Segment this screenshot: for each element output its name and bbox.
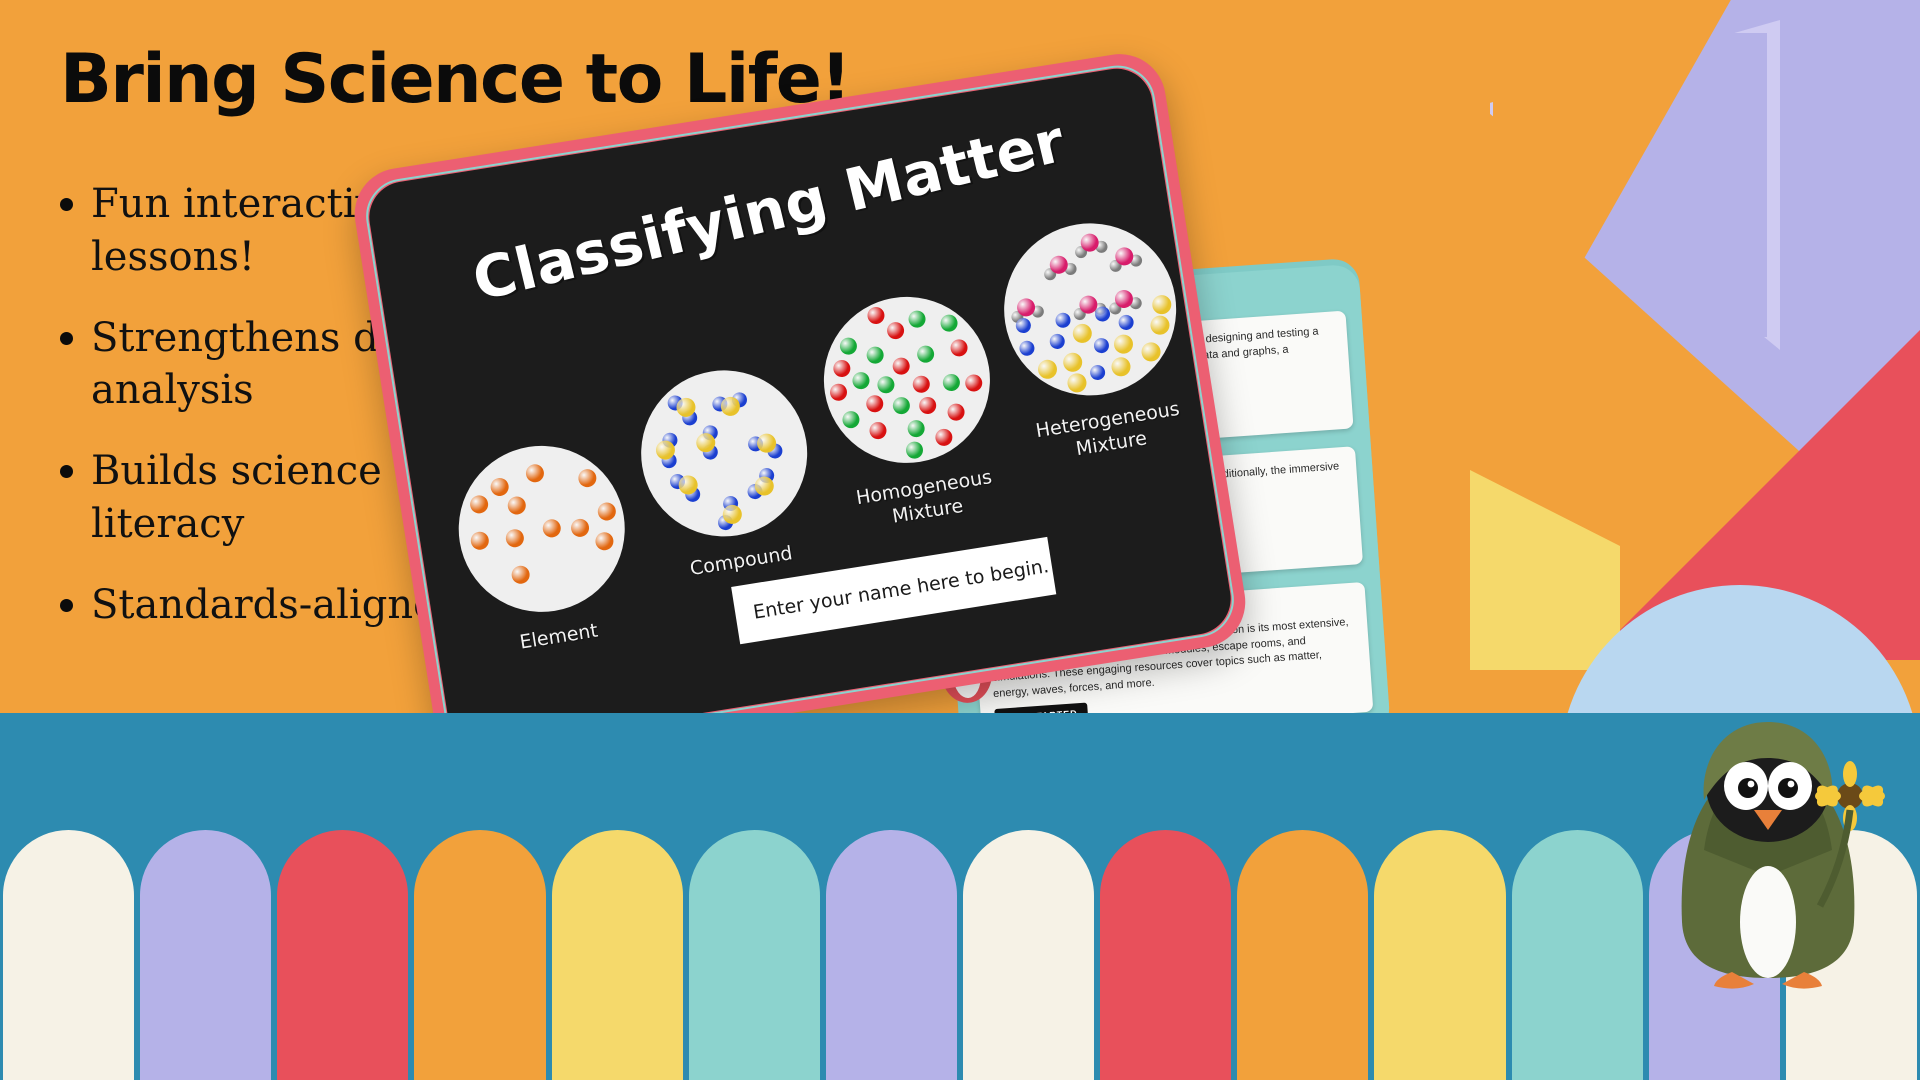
diagram-label: Homogeneous Mixture bbox=[827, 461, 1024, 539]
atom-dot bbox=[907, 309, 926, 328]
footer-arch bbox=[1100, 830, 1231, 1080]
atom-dot bbox=[886, 321, 905, 340]
atom-dot bbox=[832, 359, 851, 378]
bullet-text: Standards-aligned bbox=[91, 579, 462, 632]
footer-arch bbox=[963, 830, 1094, 1080]
decor-lavender-outline bbox=[1480, 20, 1780, 350]
atom-dot bbox=[839, 337, 858, 356]
atom-dot bbox=[916, 344, 935, 363]
slide-screen: Classifying Matter Element Compound Homo… bbox=[364, 64, 1236, 753]
footer-arch bbox=[689, 830, 820, 1080]
atom-dot bbox=[934, 428, 953, 447]
atom-dot bbox=[865, 394, 884, 413]
decor-orange-band bbox=[1370, 0, 1490, 230]
diagram-label: Element bbox=[462, 610, 655, 664]
bullet-dot-icon bbox=[60, 198, 73, 211]
atom-dot bbox=[489, 477, 510, 498]
footer-arch bbox=[1374, 830, 1505, 1080]
atom-dot bbox=[949, 338, 968, 357]
atom-dot bbox=[1066, 372, 1088, 394]
diagram-element[interactable]: Element bbox=[434, 432, 656, 664]
footer-arch bbox=[3, 830, 134, 1080]
atom-dot bbox=[1089, 364, 1106, 381]
atom-dot bbox=[829, 382, 848, 401]
footer-arch bbox=[826, 830, 957, 1080]
footer-arch bbox=[414, 830, 545, 1080]
petri-dish-element bbox=[447, 434, 637, 624]
atom-dot bbox=[1015, 317, 1032, 334]
atom-dot bbox=[1093, 337, 1110, 354]
atom-dot bbox=[1071, 323, 1093, 345]
bullet-dot-icon bbox=[60, 332, 73, 345]
atom-dot bbox=[851, 371, 870, 390]
atom-dot bbox=[577, 468, 598, 489]
page-title: Bring Science to Life! bbox=[60, 44, 850, 115]
atom-dot bbox=[1149, 315, 1171, 337]
atom-dot bbox=[1018, 340, 1035, 357]
atom-dot bbox=[525, 463, 546, 484]
decor-lavender-triangle bbox=[1490, 0, 1920, 560]
footer-arch bbox=[1237, 830, 1368, 1080]
footer-arch bbox=[1512, 830, 1643, 1080]
atom-dot bbox=[1048, 333, 1065, 350]
atom-dot bbox=[906, 418, 925, 437]
petri-dish-heterogeneous bbox=[992, 211, 1189, 408]
diagram-label: Heterogeneous Mixture bbox=[1011, 393, 1208, 471]
atom-dot bbox=[892, 396, 911, 415]
atom-dot bbox=[866, 346, 885, 365]
atom-dot bbox=[1062, 351, 1084, 373]
atom-dot bbox=[866, 306, 885, 325]
atom-dot bbox=[470, 531, 491, 552]
atom-dot bbox=[942, 372, 961, 391]
diagram-compound[interactable]: Compound bbox=[616, 356, 838, 588]
footer-arch bbox=[277, 830, 408, 1080]
atom-dot bbox=[1151, 293, 1173, 315]
atom-dot bbox=[1054, 312, 1071, 329]
bullet-dot-icon bbox=[60, 465, 73, 478]
diagram-heterogeneous[interactable]: Heterogeneous Mixture bbox=[982, 209, 1208, 471]
diagram-homogeneous[interactable]: Homogeneous Mixture bbox=[799, 283, 1024, 539]
bullet-dot-icon bbox=[60, 599, 73, 612]
footer-arch bbox=[140, 830, 271, 1080]
atom-dot bbox=[964, 373, 983, 392]
atom-dot bbox=[946, 402, 965, 421]
atom-dot bbox=[506, 495, 527, 516]
atom-dot bbox=[1140, 341, 1162, 363]
atom-dot bbox=[1037, 359, 1059, 381]
atom-dot bbox=[892, 356, 911, 375]
atom-dot bbox=[542, 518, 563, 539]
atom-dot bbox=[1110, 356, 1132, 378]
petri-dish-homogeneous bbox=[812, 285, 1002, 475]
footer-arch bbox=[552, 830, 683, 1080]
petri-dish-compound bbox=[629, 358, 819, 548]
lesson-slide-card[interactable]: Classifying Matter Element Compound Homo… bbox=[348, 48, 1252, 769]
decor-yellow-shape bbox=[1470, 470, 1620, 670]
atom-dot bbox=[505, 528, 526, 549]
decor-red-triangle bbox=[1590, 330, 1920, 660]
atom-dot bbox=[917, 396, 936, 415]
atom-dot bbox=[912, 374, 931, 393]
atom-dot bbox=[1112, 333, 1134, 355]
footer-arch-row bbox=[0, 830, 1920, 1080]
atom-dot bbox=[876, 375, 895, 394]
atom-dot bbox=[510, 564, 531, 585]
atom-dot bbox=[469, 494, 490, 515]
atom-dot bbox=[1118, 314, 1135, 331]
atom-dot bbox=[841, 409, 860, 428]
atom-dot bbox=[939, 313, 958, 332]
atom-dot bbox=[594, 531, 615, 552]
penguin-mascot-icon bbox=[1638, 700, 1898, 990]
atom-dot bbox=[868, 421, 887, 440]
atom-dot bbox=[905, 440, 924, 459]
atom-dot bbox=[570, 518, 591, 539]
atom-dot bbox=[597, 501, 618, 522]
